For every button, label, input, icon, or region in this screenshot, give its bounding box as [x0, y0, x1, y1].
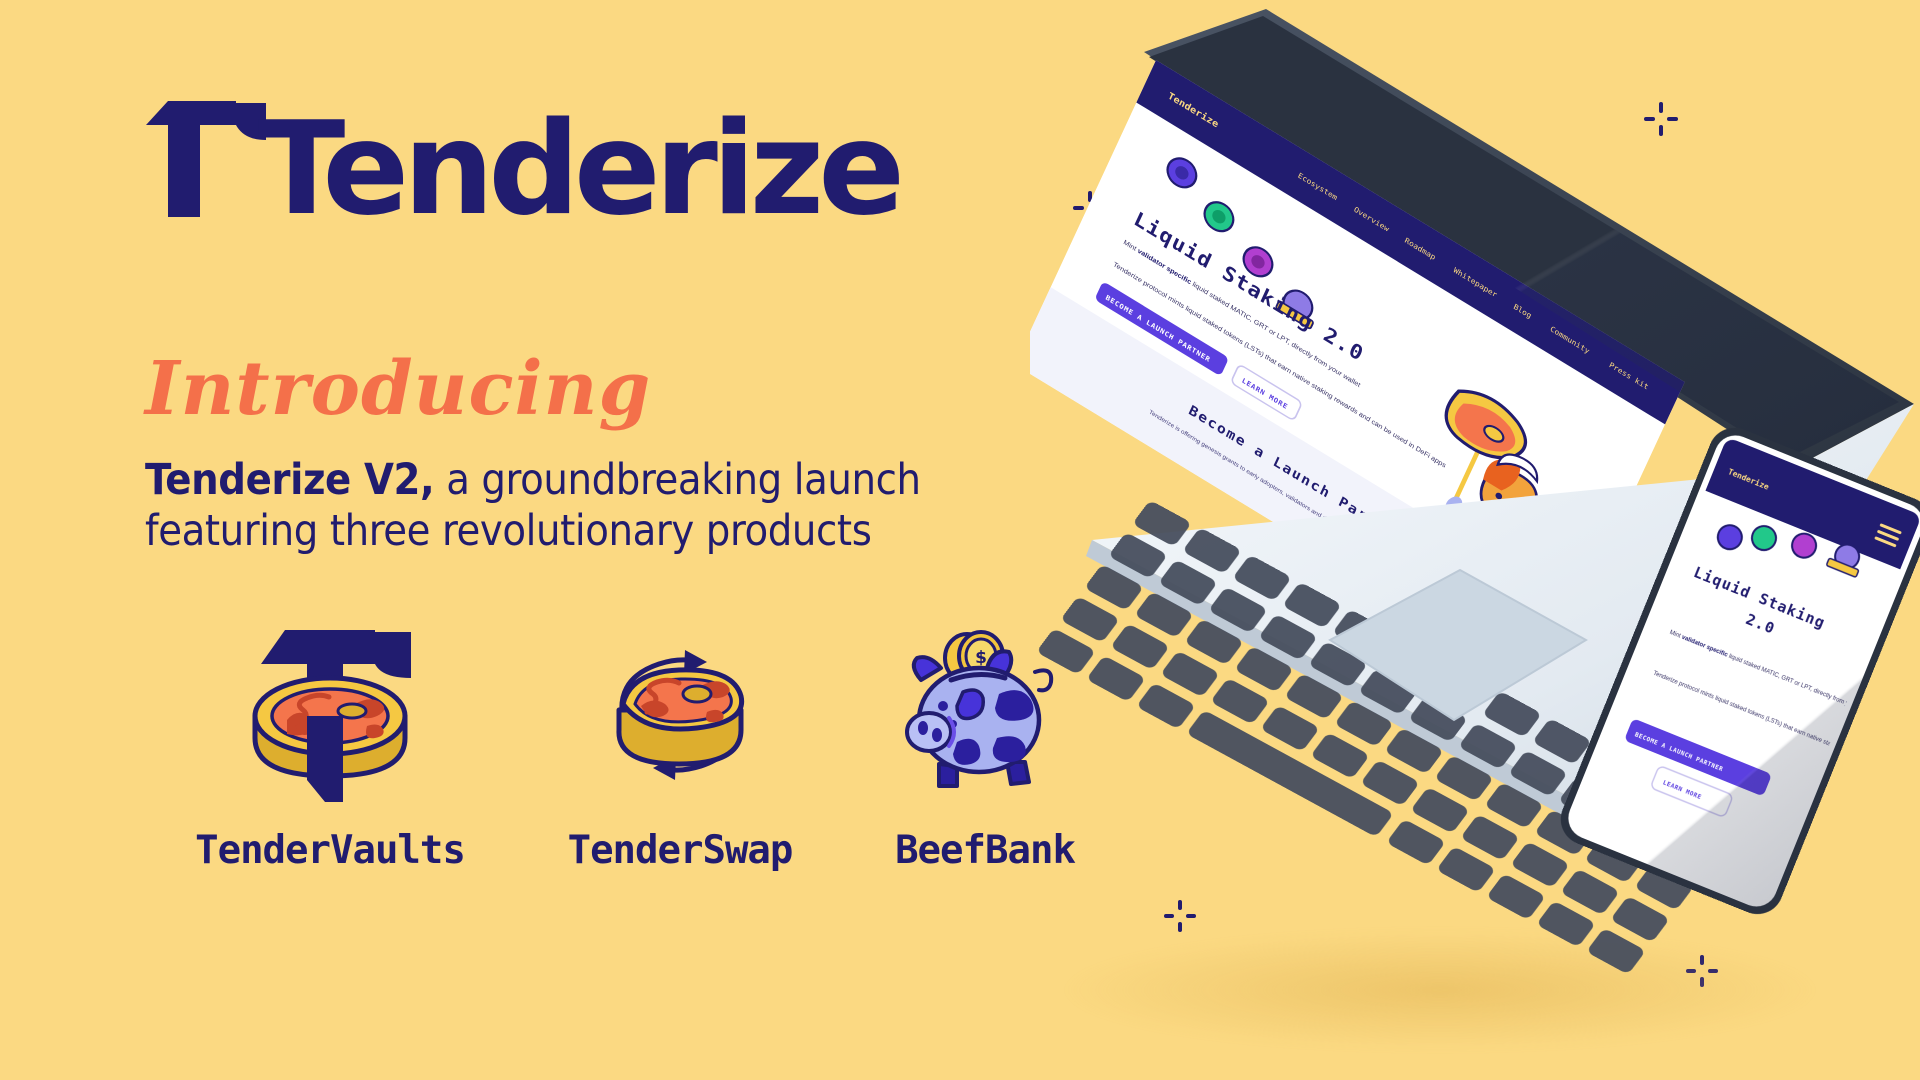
hero-lede: Tenderize V2, a groundbreaking launch fe… [145, 455, 1085, 556]
left-content-column: Tenderize Introducing Tenderize V2, a gr… [0, 0, 1150, 1080]
hero-lede-line-2: featuring three revolutionary products [145, 506, 1085, 557]
hero-lede-strong: Tenderize V2, [145, 455, 434, 505]
product-tenderswap[interactable]: TenderSwap [530, 620, 830, 873]
tenderize-logo: Tenderize [140, 95, 920, 220]
hero-lede-line-1: Tenderize V2, a groundbreaking launch [145, 455, 1085, 506]
product-label-tenderswap: TenderSwap [568, 828, 793, 873]
hero-lede-rest: a groundbreaking launch [434, 455, 920, 505]
product-label-tendervaults: TenderVaults [195, 828, 465, 873]
product-tendervaults[interactable]: TenderVaults [130, 620, 530, 873]
steak-swap-arrows-icon [585, 620, 775, 810]
eyebrow-introducing: Introducing [145, 352, 651, 426]
announcement-banner: Tenderize Introducing Tenderize V2, a gr… [0, 0, 1920, 1080]
logo-wordmark-text: Tenderize [258, 95, 899, 220]
device-mockups: Tenderize Ecosystem Overview Roadmap Whi… [1030, 0, 1920, 1080]
product-row: TenderVaults [130, 620, 1140, 873]
steak-vault-t-icon [225, 620, 435, 810]
svg-text:$: $ [975, 648, 987, 668]
